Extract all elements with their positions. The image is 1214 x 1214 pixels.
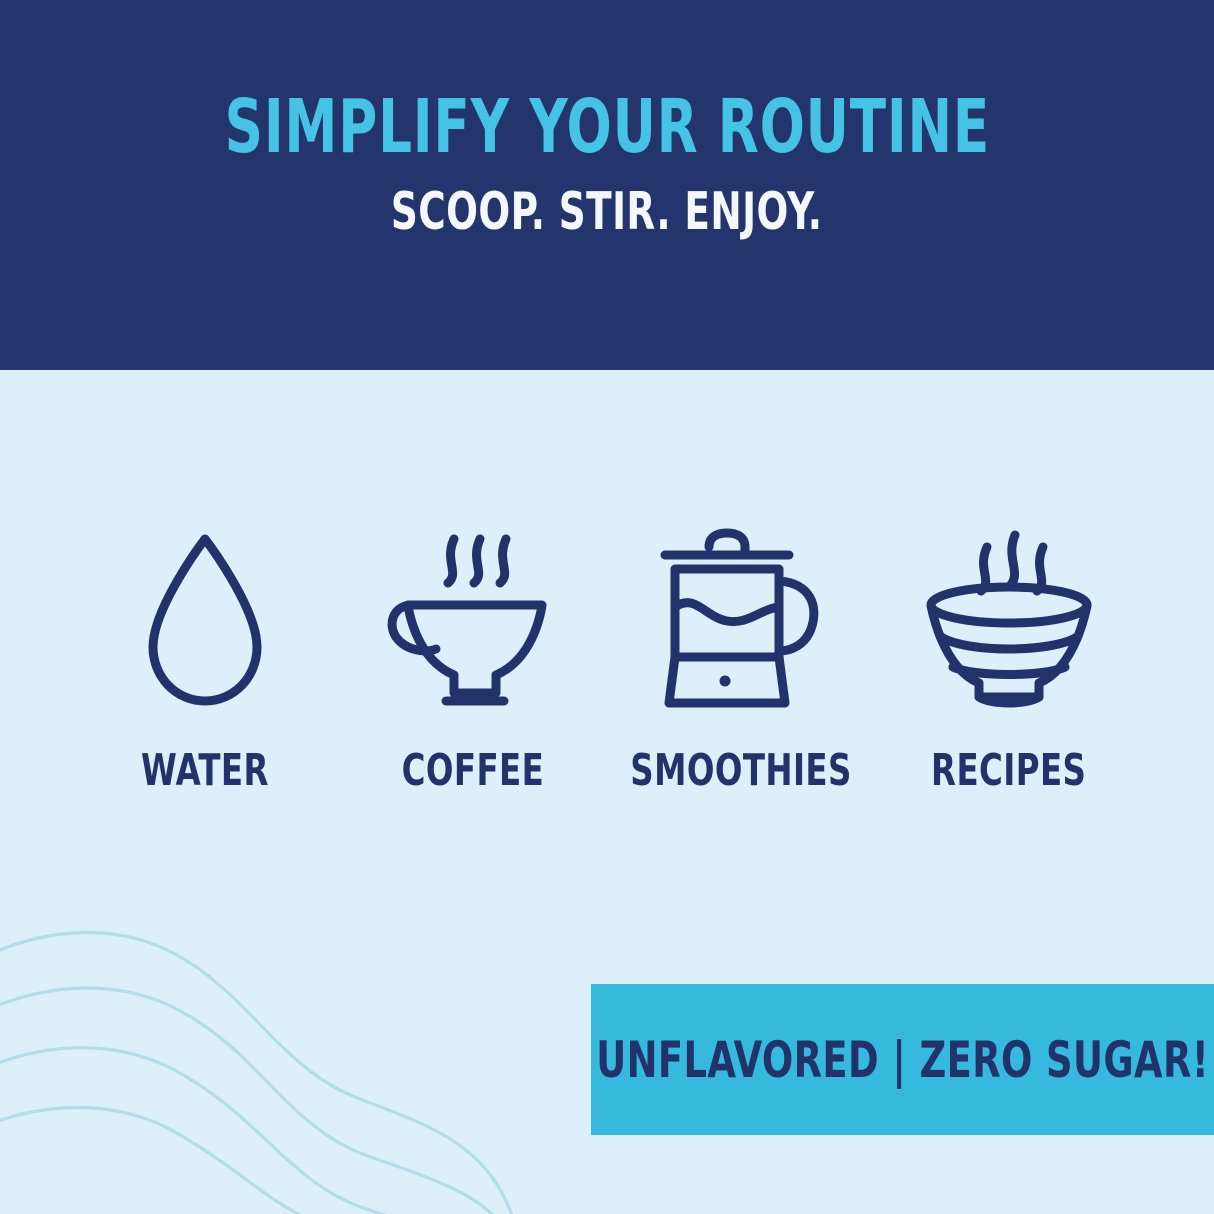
page-title: SIMPLIFY YOUR ROUTINE: [224, 90, 989, 164]
usage-item-smoothies: SMOOTHIES: [607, 525, 875, 793]
usage-item-water: WATER: [71, 525, 339, 793]
blender-icon: [651, 525, 831, 715]
usage-item-label: RECIPES: [931, 749, 1086, 793]
usage-item-coffee: COFFEE: [339, 525, 607, 793]
wave-decoration: [0, 894, 600, 1214]
usage-item-label: COFFEE: [402, 749, 545, 793]
header-band: SIMPLIFY YOUR ROUTINE SCOOP. STIR. ENJOY…: [0, 0, 1214, 370]
flavor-banner: UNFLAVORED | ZERO SUGAR!: [591, 984, 1214, 1135]
water-drop-icon: [145, 525, 265, 715]
usage-item-label: WATER: [141, 749, 269, 793]
coffee-cup-icon: [386, 525, 561, 715]
flavor-banner-text: UNFLAVORED | ZERO SUGAR!: [596, 1035, 1209, 1085]
promo-poster: SIMPLIFY YOUR ROUTINE SCOOP. STIR. ENJOY…: [0, 0, 1214, 1214]
page-subtitle: SCOOP. STIR. ENJOY.: [391, 186, 822, 238]
usage-icon-row: WATER: [0, 525, 1214, 793]
usage-item-recipes: RECIPES: [875, 525, 1143, 793]
usage-item-label: SMOOTHIES: [630, 749, 852, 793]
soup-bowl-icon: [919, 525, 1099, 715]
